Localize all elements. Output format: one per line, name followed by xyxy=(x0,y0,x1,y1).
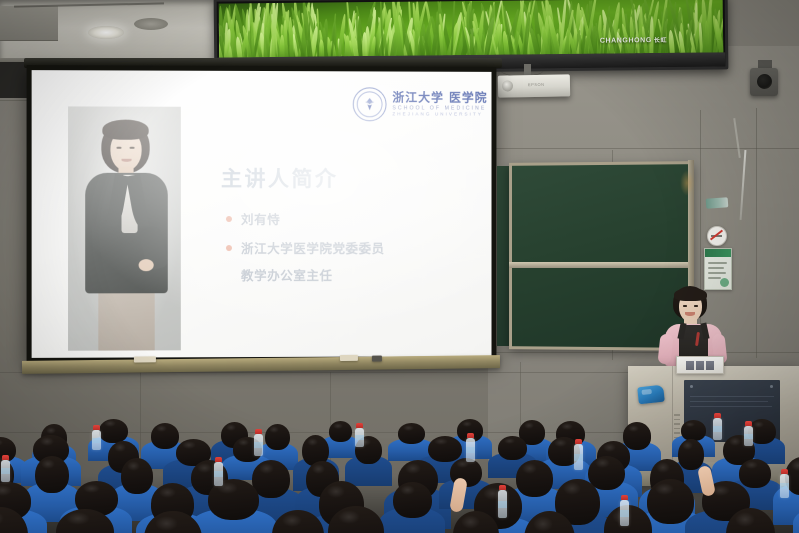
wall-seam xyxy=(488,148,799,149)
bottle-label xyxy=(574,454,583,461)
ceiling-slab xyxy=(0,0,240,62)
wall-bracket xyxy=(706,197,729,209)
blue-object-on-shelf xyxy=(637,385,665,405)
bottle-cap-icon xyxy=(745,421,752,426)
chalk-eraser xyxy=(134,356,156,362)
water-bottle xyxy=(355,428,364,447)
placard-header xyxy=(705,249,731,257)
audience-head xyxy=(151,423,179,449)
no-smoking-icon xyxy=(707,226,727,246)
tv-brand-text: CHANGHONG xyxy=(600,37,652,45)
bullet-text: 浙江大学医学院党委委员 xyxy=(241,240,385,258)
projector-brand-label: EPSON xyxy=(528,82,545,87)
speaker-portrait-photo xyxy=(68,106,181,350)
ceiling-vent xyxy=(0,6,58,41)
bottle-cap-icon xyxy=(714,413,721,418)
bottle-label xyxy=(744,434,753,439)
water-bottle xyxy=(92,430,101,450)
audience-head xyxy=(121,458,153,494)
audience-head xyxy=(99,419,129,443)
grass-blade xyxy=(279,35,284,58)
slide-canvas: 浙江大学 医学院 SCHOOL OF MEDICINE ZHEJIANG UNI… xyxy=(32,70,492,358)
blackboard-left-panel xyxy=(497,166,509,346)
bottle-label xyxy=(713,426,722,432)
bottle-cap-icon xyxy=(356,423,363,428)
placard-line xyxy=(708,277,721,279)
presenter-eye xyxy=(683,305,687,307)
audience-head xyxy=(739,459,771,488)
bottle-cap-icon xyxy=(2,455,9,460)
bottle-label xyxy=(254,442,263,448)
water-bottle xyxy=(1,460,10,482)
zju-logo-chinese: 浙江大学 医学院 xyxy=(392,91,487,104)
bullet-text: 刘有恃 xyxy=(241,211,280,229)
bottle-label xyxy=(92,438,101,443)
wall-seam xyxy=(488,352,799,353)
name-card-glyph xyxy=(686,361,694,370)
tv-brand-cn: 长虹 xyxy=(654,38,667,44)
bottle-label xyxy=(355,435,364,440)
bottle-cap-icon xyxy=(621,495,628,500)
name-card xyxy=(676,356,724,374)
audience-head xyxy=(681,420,707,441)
placard-line xyxy=(708,267,724,269)
audience-head xyxy=(329,421,352,442)
presenter-fringe xyxy=(674,288,707,301)
bullet-dot-icon xyxy=(226,245,232,251)
water-bottle xyxy=(713,418,722,440)
bottle-cap-icon xyxy=(255,429,262,434)
blackboard-divider xyxy=(509,262,694,268)
audience-head xyxy=(678,439,704,470)
bottle-cap-icon xyxy=(467,433,474,438)
bullet-continuation-text: 教学办公室主任 xyxy=(241,265,475,284)
audience-head xyxy=(623,422,651,449)
wall-smudge xyxy=(680,170,694,196)
ceiling-rail xyxy=(14,2,164,7)
zju-seal-icon xyxy=(353,87,387,121)
slide-title: 主讲人简介 xyxy=(221,163,338,193)
wall-seam xyxy=(756,108,757,358)
panel-screw xyxy=(770,385,773,388)
bottle-label xyxy=(466,447,475,453)
audience-head xyxy=(398,423,425,444)
audience-head xyxy=(498,436,527,460)
wall-speaker xyxy=(750,68,778,96)
speaker-cone-icon xyxy=(757,74,772,89)
chalk-eraser xyxy=(372,356,382,362)
list-item: 浙江大学医学院党委委员 xyxy=(226,240,475,258)
downlight-icon xyxy=(88,26,124,39)
bottle-cap-icon xyxy=(499,485,506,490)
chalk-eraser xyxy=(340,355,358,361)
water-bottle xyxy=(498,490,507,518)
bottle-label xyxy=(1,468,10,474)
audience-head xyxy=(265,424,290,450)
bottle-cap-icon xyxy=(575,439,582,444)
tv-brand-label: CHANGHONG长虹 xyxy=(600,35,667,45)
panel-line xyxy=(690,396,774,397)
presenter-smile xyxy=(685,312,695,316)
slide-bullet-list: 刘有恃 浙江大学医学院党委委员 教学办公室主任 xyxy=(226,211,475,284)
ceiling-projector: EPSON xyxy=(498,74,570,97)
projector-lens-icon xyxy=(502,80,513,91)
bottle-cap-icon xyxy=(93,425,100,430)
student-audience xyxy=(0,404,799,533)
water-bottle xyxy=(620,500,629,526)
water-bottle xyxy=(466,438,475,462)
zju-school-logo: 浙江大学 医学院 SCHOOL OF MEDICINE ZHEJIANG UNI… xyxy=(353,87,488,121)
bottle-label xyxy=(620,510,629,517)
name-card-glyph xyxy=(696,361,704,370)
audience-head xyxy=(647,479,694,524)
water-bottle xyxy=(744,426,753,446)
bottle-label xyxy=(498,501,507,508)
zju-logo-english-2: ZHEJIANG UNIVERSITY xyxy=(392,112,487,117)
audience-head xyxy=(393,482,432,518)
green-info-placard xyxy=(704,248,732,290)
audience-head xyxy=(428,436,462,463)
water-bottle xyxy=(214,462,223,486)
downlight-icon xyxy=(134,18,168,30)
zju-logo-text: 浙江大学 医学院 SCHOOL OF MEDICINE ZHEJIANG UNI… xyxy=(392,91,487,117)
water-bottle xyxy=(254,434,263,456)
name-card-glyph xyxy=(706,361,714,370)
bottle-cap-icon xyxy=(215,457,222,462)
presenter-eye xyxy=(694,305,698,307)
panel-line xyxy=(690,401,768,402)
bottle-label xyxy=(780,483,789,489)
bottle-label xyxy=(214,471,223,477)
water-bottle xyxy=(574,444,583,470)
grass-blade xyxy=(224,23,228,58)
portrait-light-wash xyxy=(68,106,181,350)
list-item: 刘有恃 xyxy=(226,211,475,229)
placard-line xyxy=(708,262,727,264)
water-bottle xyxy=(780,474,789,498)
panel-screw xyxy=(690,385,693,388)
projection-screen: 浙江大学 医学院 SCHOOL OF MEDICINE ZHEJIANG UNI… xyxy=(27,65,497,363)
audience-head xyxy=(516,460,553,496)
bottle-cap-icon xyxy=(781,469,788,474)
placard-line xyxy=(708,272,726,274)
lecture-hall-scene: CHANGHONG长虹 0 Bytes/s 0 Bytes/s EPSON xyxy=(0,0,799,533)
bullet-dot-icon xyxy=(226,216,232,222)
tv-screen xyxy=(219,0,724,58)
audience-head xyxy=(35,456,69,494)
